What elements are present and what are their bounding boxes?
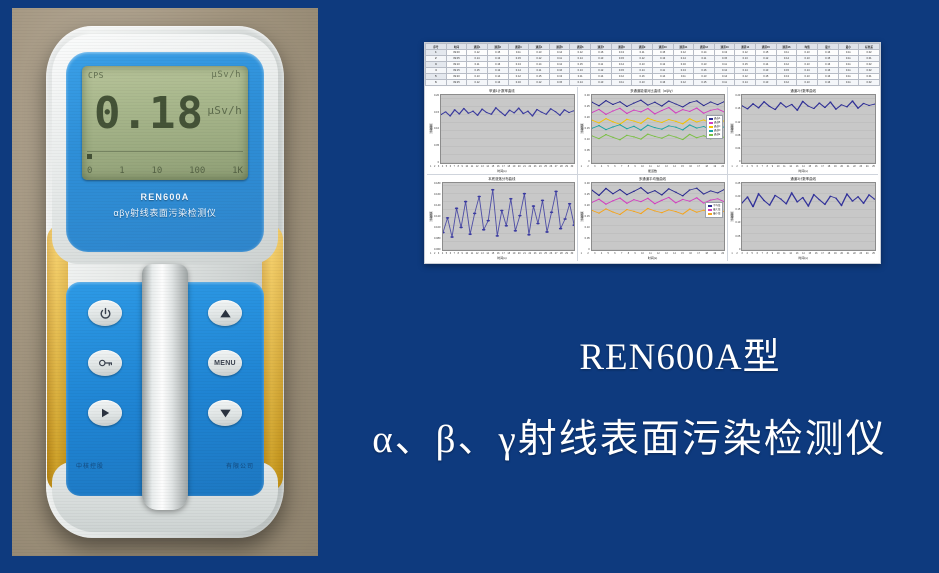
chart-ytick: 0.15 <box>735 208 740 211</box>
brand-right-label: 有限公司 <box>226 461 254 470</box>
chart-xtick: 15 <box>808 252 811 255</box>
chart-xtick: 3 <box>741 165 742 168</box>
chart-xtick: 20 <box>721 252 724 255</box>
chart-xtick: 12 <box>789 165 792 168</box>
play-button[interactable] <box>88 400 122 426</box>
chart-ytick: 0.160 <box>434 193 441 196</box>
chart-xtick: 5 <box>608 165 609 168</box>
chart-xtick: 1 <box>731 252 732 255</box>
chart-xtick: 29 <box>565 165 568 168</box>
table-cell: 0.12 <box>467 80 488 86</box>
chart-xtick: 13 <box>481 252 484 255</box>
chart-xtick: 10 <box>641 252 644 255</box>
chart-ytick: 0.25 <box>585 105 590 108</box>
chart-xtick: 20 <box>840 252 843 255</box>
table-cell: 0.13 <box>591 80 612 86</box>
chart-xtick: 24 <box>539 165 542 168</box>
legend-label: 最小值 <box>713 212 720 216</box>
chart-xlabel: 时间(s) <box>580 256 726 260</box>
chart-xtick: 19 <box>713 252 716 255</box>
lcd-scale-tick: 0 <box>87 166 92 176</box>
key-button[interactable] <box>88 350 122 376</box>
chart-xtick: 12 <box>789 252 792 255</box>
chart-xtick: 25 <box>544 165 547 168</box>
chart-xtick: 23 <box>859 165 862 168</box>
legend-color-swatch <box>708 209 712 211</box>
table-cell: 0.16 <box>508 80 529 86</box>
table-cell: 0.11 <box>838 80 859 86</box>
chart-ytick: 0.10 <box>434 127 439 130</box>
chart-legend-item: 通道E <box>709 133 721 137</box>
chart-plot-area <box>442 182 575 252</box>
chart-xtick: 20 <box>840 165 843 168</box>
chart-xtick: 7 <box>454 165 455 168</box>
chart-xtick: 14 <box>673 252 676 255</box>
chart-grid: 甲道1计数率曲线计数率0.200.150.100.050123456789101… <box>427 87 878 261</box>
legend-color-swatch <box>708 213 712 215</box>
chart-xtick: 11 <box>471 252 473 255</box>
chart-xtick: 9 <box>462 165 463 168</box>
chart-xtick: 18 <box>507 165 510 168</box>
menu-button-label: MENU <box>214 360 236 367</box>
chart-ytick: 0.20 <box>735 195 740 198</box>
chart-body: 计数率0.200.160.120.080.040 <box>730 94 876 164</box>
chart-xtick: 1 <box>731 165 732 168</box>
chart-xtick: 8 <box>458 252 459 255</box>
chart-xtick: 10 <box>641 165 644 168</box>
chart-xtick: 16 <box>689 165 692 168</box>
legend-label: 通道E <box>714 133 720 137</box>
chart-ytick: 0.100 <box>434 226 441 229</box>
chart-plot-area <box>741 182 876 252</box>
chart-xtick: 23 <box>859 252 862 255</box>
chart-ytick: 0.10 <box>585 138 590 141</box>
chart-xtick: 11 <box>783 252 785 255</box>
chart-xtick: 11 <box>649 165 651 168</box>
table-cell: 0.16 <box>652 80 673 86</box>
chart-yticks: 0.300.250.200.150.100.050 <box>584 94 591 164</box>
chart-ytick: 0.15 <box>585 215 590 218</box>
table-row: 609:250.120.130.160.120.150.140.130.110.… <box>426 80 880 86</box>
device-desc-label: αβγ射线表面污染检测仪 <box>66 206 264 219</box>
chart-cell: 甲道1计数率曲线计数率0.200.150.100.050123456789101… <box>427 87 577 174</box>
product-photo: CPS μSv/h 0.18 μSv/h 01101001K REN600A α… <box>12 8 318 556</box>
chart-xtick: 16 <box>497 165 500 168</box>
chart-xtick: 13 <box>665 252 668 255</box>
software-screenshot-panel: 序号时间通道1通道2通道3通道4通道5通道6通道7通道8通道9通道10通道11通… <box>424 42 881 264</box>
chart-xtick: 25 <box>544 252 547 255</box>
table-cell: 0.12 <box>673 80 694 86</box>
chart-xtick: 1 <box>581 252 582 255</box>
chart-ytick: 0.12 <box>735 121 740 124</box>
table-cell: 0.11 <box>611 80 632 86</box>
chart-ytick: 0.04 <box>735 147 740 150</box>
chart-xtick: 8 <box>767 165 768 168</box>
chart-xtick: 28 <box>560 252 563 255</box>
chart-xtick: 8 <box>767 252 768 255</box>
chart-xtick: 2 <box>736 165 737 168</box>
chart-xlabel: 时间(s) <box>730 169 876 173</box>
chart-ytick: 0.120 <box>434 215 441 218</box>
chart-xtick: 27 <box>555 252 558 255</box>
chart-body: 计数率0.250.200.150.100.050 <box>730 182 876 252</box>
chart-xtick: 4 <box>746 252 747 255</box>
chart-yticks: 0.1800.1600.1400.1200.1000.0800.060 <box>433 182 442 252</box>
chart-xtick: 13 <box>796 252 799 255</box>
chart-xlabel: 时间(s) <box>429 256 575 260</box>
chart-body: 计数值0.300.250.200.150.100.050平均值最大值最小值 <box>580 182 726 252</box>
chart-xtick: 11 <box>783 165 785 168</box>
chart-xtick: 17 <box>821 165 824 168</box>
table-cell: 0.15 <box>694 80 715 86</box>
chart-xtick: 7 <box>621 165 622 168</box>
chart-xtick: 3 <box>594 252 595 255</box>
chart-xtick: 17 <box>502 252 505 255</box>
chart-xtick: 6 <box>757 252 758 255</box>
chart-xtick: 21 <box>523 252 526 255</box>
chart-xtick: 21 <box>523 165 526 168</box>
chart-xtick: 24 <box>866 252 869 255</box>
chart-xtick: 9 <box>634 165 635 168</box>
chart-xtick: 4 <box>601 252 602 255</box>
chart-xtick: 22 <box>528 165 531 168</box>
chart-xtick: 15 <box>808 165 811 168</box>
chart-ytick: 0.15 <box>585 127 590 130</box>
lcd-scale-tick: 100 <box>189 166 205 176</box>
chart-xtick: 23 <box>534 165 537 168</box>
chart-body: 计数值0.1800.1600.1400.1200.1000.0800.060 <box>429 182 575 252</box>
chart-xtick: 1 <box>430 165 431 168</box>
chart-xtick: 26 <box>550 165 553 168</box>
chart-xtick: 16 <box>497 252 500 255</box>
chart-xtick: 17 <box>697 165 700 168</box>
chart-ytick: 0.08 <box>735 134 740 137</box>
chart-ylabel: 计数率 <box>730 123 734 134</box>
table-cell: 0.12 <box>776 80 797 86</box>
chart-xtick: 2 <box>736 252 737 255</box>
slide-canvas: CPS μSv/h 0.18 μSv/h 01101001K REN600A α… <box>0 0 939 573</box>
chart-xtick: 2 <box>434 165 435 168</box>
detector-device: CPS μSv/h 0.18 μSv/h 01101001K REN600A α… <box>46 26 284 538</box>
chart-xtick: 13 <box>796 165 799 168</box>
chart-xlabel: 时间(s) <box>429 169 575 173</box>
triangle-up-icon <box>219 308 232 319</box>
table-cell: 0.15 <box>549 80 570 86</box>
chart-xtick: 2 <box>434 252 435 255</box>
chart-xtick: 6 <box>614 252 615 255</box>
data-table-body: 109:000.120.150.110.130.140.120.160.130.… <box>426 50 880 86</box>
bargraph-segment <box>87 154 92 159</box>
chart-xtick: 27 <box>555 165 558 168</box>
chart-xtick: 5 <box>446 165 447 168</box>
chart-xtick: 17 <box>697 252 700 255</box>
chart-ytick: 0.25 <box>585 193 590 196</box>
chart-ytick: 0.30 <box>585 182 590 185</box>
chart-xtick: 4 <box>442 165 443 168</box>
play-icon <box>99 407 111 419</box>
chart-plot-area <box>741 94 876 164</box>
chart-xtick: 1 <box>430 252 431 255</box>
title-product: α、β、γ射线表面污染检测仪 <box>322 408 937 464</box>
chart-body: 计数率0.200.150.100.050 <box>429 94 575 164</box>
chart-cell: 多通道能谱对比曲线（α/β/γ）计数值0.300.250.200.150.100… <box>578 87 728 174</box>
chart-xtick: 20 <box>518 252 521 255</box>
chart-xtick: 14 <box>486 165 489 168</box>
table-cell: 0.13 <box>756 80 777 86</box>
chart-ylabel: 计数值 <box>580 211 584 222</box>
chart-ytick: 0.20 <box>585 204 590 207</box>
chart-xtick: 18 <box>507 252 510 255</box>
power-button[interactable] <box>88 300 122 326</box>
chart-xtick: 12 <box>476 165 479 168</box>
table-cell: 0.14 <box>735 80 756 86</box>
chart-xtick: 19 <box>513 165 516 168</box>
chart-xtick: 15 <box>492 165 495 168</box>
chart-xtick: 10 <box>465 165 468 168</box>
chart-xtick: 11 <box>471 165 473 168</box>
chart-plot-wrap: 通道A通道B通道C通道D通道E <box>591 94 726 164</box>
chart-xtick: 6 <box>450 252 451 255</box>
chart-ytick: 0.15 <box>434 111 439 114</box>
device-handle <box>142 264 188 510</box>
chart-xtick: 20 <box>721 165 724 168</box>
chart-ytick: 0.05 <box>434 144 439 147</box>
lcd-bargraph <box>87 151 243 160</box>
chart-xtick: 17 <box>821 252 824 255</box>
chart-xtick: 7 <box>621 252 622 255</box>
chart-xtick: 3 <box>438 165 439 168</box>
legend-color-swatch <box>709 130 713 132</box>
power-icon <box>99 307 112 320</box>
chart-xtick: 9 <box>634 252 635 255</box>
table-cell: 0.11 <box>714 80 735 86</box>
legend-color-swatch <box>709 134 713 136</box>
chart-xtick: 10 <box>465 252 468 255</box>
chart-xtick: 24 <box>539 252 542 255</box>
table-cell: 0.16 <box>817 80 838 86</box>
grip-left <box>47 224 68 492</box>
chart-ytick: 0.30 <box>585 94 590 97</box>
chart-xtick: 22 <box>528 252 531 255</box>
chart-yticks: 0.200.160.120.080.040 <box>734 94 741 164</box>
chart-xtick: 16 <box>815 165 818 168</box>
table-cell: 0.14 <box>570 80 591 86</box>
lcd-status-right: μSv/h <box>211 70 241 80</box>
chart-xtick: 8 <box>628 252 629 255</box>
chart-yticks: 0.300.250.200.150.100.050 <box>584 182 591 252</box>
chart-xtick: 16 <box>815 252 818 255</box>
chart-plot-wrap <box>741 94 876 164</box>
chart-xtick: 10 <box>777 252 780 255</box>
chart-xtick: 14 <box>802 165 805 168</box>
chart-legend: 通道A通道B通道C通道D通道E <box>706 115 724 139</box>
chart-xtick: 20 <box>518 165 521 168</box>
chart-ytick: 0.080 <box>434 237 441 240</box>
chart-xtick: 25 <box>872 252 875 255</box>
chart-legend: 平均值最大值最小值 <box>705 202 723 218</box>
lcd-scale-tick: 10 <box>151 166 162 176</box>
chart-xtick: 25 <box>872 165 875 168</box>
chart-xtick: 9 <box>772 165 773 168</box>
chart-xtick: 24 <box>866 165 869 168</box>
chart-plot-wrap: 平均值最大值最小值 <box>591 182 726 252</box>
grip-right <box>262 224 283 492</box>
up-button[interactable] <box>208 300 242 326</box>
table-cell: 09:25 <box>446 80 467 86</box>
chart-xtick: 3 <box>438 252 439 255</box>
chart-xtick: 8 <box>458 165 459 168</box>
chart-xtick: 8 <box>628 165 629 168</box>
table-cell: 6 <box>426 80 447 86</box>
chart-xtick: 23 <box>534 252 537 255</box>
chart-xtick: 18 <box>705 252 708 255</box>
chart-xtick: 4 <box>601 165 602 168</box>
chart-xtick: 4 <box>746 165 747 168</box>
chart-xtick: 5 <box>752 165 753 168</box>
chart-cell: 多通道平均值曲线计数值0.300.250.200.150.100.050平均值最… <box>578 175 728 262</box>
chart-ylabel: 计数值 <box>580 123 584 134</box>
chart-ytick: 0.20 <box>585 116 590 119</box>
chart-yticks: 0.250.200.150.100.050 <box>734 182 741 252</box>
title-model: REN600A型 <box>430 326 930 380</box>
chart-xtick: 30 <box>571 165 574 168</box>
chart-xtick: 19 <box>513 252 516 255</box>
chart-xtick: 5 <box>752 252 753 255</box>
chart-cell: 本底涨落分布曲线计数值0.1800.1600.1400.1200.1000.08… <box>427 175 577 262</box>
chart-yticks: 0.200.150.100.050 <box>433 94 440 164</box>
chart-xtick: 15 <box>681 252 684 255</box>
lcd-scale-tick: 1 <box>119 166 124 176</box>
chart-xtick: 15 <box>492 252 495 255</box>
chart-ytick: 0.140 <box>434 204 441 207</box>
chart-ytick: 0.10 <box>735 221 740 224</box>
chart-xtick: 5 <box>608 252 609 255</box>
chart-plot-wrap <box>442 182 575 252</box>
chart-body: 计数值0.300.250.200.150.100.050通道A通道B通道C通道D… <box>580 94 726 164</box>
lcd-scale-tick: 1K <box>232 166 243 176</box>
chart-xtick: 7 <box>454 252 455 255</box>
chart-xtick: 18 <box>705 165 708 168</box>
legend-color-swatch <box>709 126 713 128</box>
table-cell: 0.13 <box>797 80 818 86</box>
chart-xtick: 1 <box>581 165 582 168</box>
chart-xtick: 13 <box>481 165 484 168</box>
legend-color-swatch <box>708 205 712 207</box>
menu-button[interactable]: MENU <box>208 350 242 376</box>
chart-xtick: 5 <box>446 252 447 255</box>
chart-xtick: 3 <box>594 165 595 168</box>
chart-ytick: 0.16 <box>735 107 740 110</box>
chart-xtick: 26 <box>550 252 553 255</box>
chart-plot-area <box>440 94 575 164</box>
chart-xtick: 12 <box>657 165 660 168</box>
chart-xtick: 15 <box>681 165 684 168</box>
chart-xtick: 4 <box>442 252 443 255</box>
lcd-unit: μSv/h <box>207 104 242 117</box>
chart-xtick: 7 <box>762 252 763 255</box>
chart-xtick: 2 <box>587 165 588 168</box>
chart-xtick: 19 <box>834 252 837 255</box>
chart-cell: 通道2计数率曲线计数率0.200.160.120.080.04012345678… <box>728 87 878 174</box>
chart-xtick: 18 <box>828 252 831 255</box>
chart-xtick: 11 <box>649 252 651 255</box>
chart-cell: 通道3计数率曲线计数率0.250.200.150.100.05012345678… <box>728 175 878 262</box>
chart-xlabel: 时间(s) <box>730 256 876 260</box>
brand-left-label: 中核控股 <box>76 461 104 470</box>
chart-ylabel: 计数率 <box>730 211 734 222</box>
chart-xtick: 13 <box>665 165 668 168</box>
chart-ytick: 0.05 <box>735 235 740 238</box>
key-icon <box>98 357 113 369</box>
chart-plot-wrap <box>440 94 575 164</box>
chart-ytick: 0.05 <box>585 237 590 240</box>
chart-xtick: 30 <box>571 252 574 255</box>
chart-ylabel: 计数率 <box>429 123 433 134</box>
lcd-scale: 01101001K <box>87 164 243 177</box>
chart-xtick: 12 <box>657 252 660 255</box>
chart-xtick: 14 <box>802 252 805 255</box>
down-button[interactable] <box>208 400 242 426</box>
chart-xtick: 16 <box>689 252 692 255</box>
chart-xtick: 14 <box>486 252 489 255</box>
chart-xtick: 9 <box>772 252 773 255</box>
triangle-down-icon <box>219 408 232 419</box>
legend-color-swatch <box>709 118 713 120</box>
chart-ytick: 0.05 <box>585 149 590 152</box>
chart-xtick: 6 <box>450 165 451 168</box>
lcd-value: 0.18 <box>94 92 204 136</box>
chart-xtick: 6 <box>614 165 615 168</box>
chart-xtick: 22 <box>853 252 856 255</box>
chart-xtick: 21 <box>847 252 850 255</box>
chart-xtick: 28 <box>560 165 563 168</box>
chart-ytick: 0.20 <box>735 94 740 97</box>
data-table: 序号时间通道1通道2通道3通道4通道5通道6通道7通道8通道9通道10通道11通… <box>425 43 880 86</box>
chart-ytick: 0.25 <box>735 182 740 185</box>
chart-xtick: 12 <box>476 252 479 255</box>
chart-xtick: 3 <box>741 252 742 255</box>
table-cell: 0.02 <box>859 80 880 86</box>
chart-ytick: 0.10 <box>585 226 590 229</box>
legend-color-swatch <box>709 122 713 124</box>
lcd-display: CPS μSv/h 0.18 μSv/h 01101001K <box>82 66 248 180</box>
chart-ytick: 0.20 <box>434 94 439 97</box>
chart-xtick: 6 <box>757 165 758 168</box>
table-cell: 0.13 <box>487 80 508 86</box>
chart-xtick: 19 <box>834 165 837 168</box>
chart-xtick: 10 <box>777 165 780 168</box>
chart-xtick: 14 <box>673 165 676 168</box>
chart-plot-wrap <box>741 182 876 252</box>
chart-xtick: 22 <box>853 165 856 168</box>
chart-xtick: 19 <box>713 165 716 168</box>
chart-xtick: 17 <box>502 165 505 168</box>
chart-xtick: 18 <box>828 165 831 168</box>
chart-xlabel: 能道数 <box>580 169 726 173</box>
device-face-plate: CPS μSv/h 0.18 μSv/h 01101001K REN600A α… <box>66 52 264 252</box>
chart-ylabel: 计数值 <box>429 211 433 222</box>
chart-xtick: 29 <box>565 252 568 255</box>
chart-xtick: 7 <box>762 165 763 168</box>
chart-ytick: 0.180 <box>434 182 441 185</box>
lcd-status-left: CPS <box>88 71 104 80</box>
table-cell: 0.12 <box>529 80 550 86</box>
device-model-label: REN600A <box>66 192 264 202</box>
table-cell: 0.13 <box>632 80 653 86</box>
chart-xtick: 2 <box>587 252 588 255</box>
chart-xtick: 9 <box>462 252 463 255</box>
chart-legend-item: 最小值 <box>708 212 720 216</box>
